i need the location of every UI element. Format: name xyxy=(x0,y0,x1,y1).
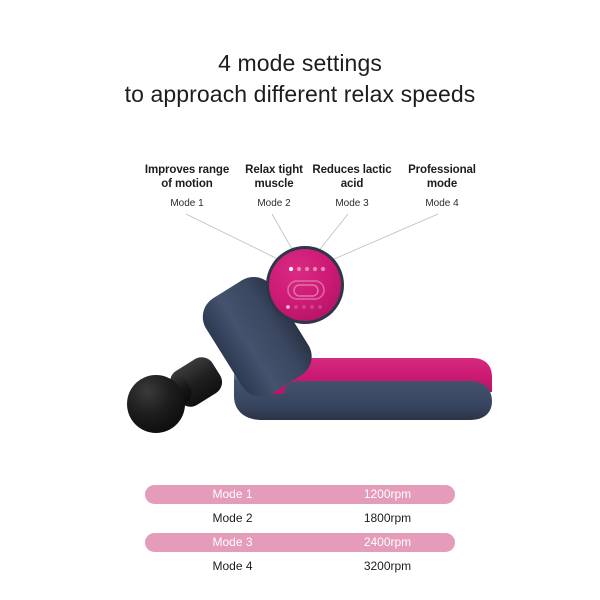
led-dot-2 xyxy=(297,267,301,271)
page-title: 4 mode settings to approach different re… xyxy=(0,48,600,110)
callout-mode-label: Mode 4 xyxy=(396,197,488,211)
table-cell-rpm: 3200rpm xyxy=(320,557,455,576)
table-cell-rpm: 1200rpm xyxy=(320,485,455,504)
callout-description: Professional mode xyxy=(396,164,488,191)
leader-line-4 xyxy=(318,214,438,266)
led-dot-3 xyxy=(305,267,309,271)
leader-lines xyxy=(186,214,438,266)
table-cell-mode: Mode 4 xyxy=(145,557,320,576)
callout-mode-4: Professional mode Mode 4 xyxy=(396,164,488,211)
table-row[interactable]: Mode 1 1200rpm xyxy=(145,485,455,504)
attachment-neck xyxy=(152,373,196,415)
led-dot-1 xyxy=(289,267,293,271)
table-cell-mode: Mode 3 xyxy=(145,533,320,552)
table-row[interactable]: Mode 4 3200rpm xyxy=(145,557,455,576)
table-cell-rpm: 1800rpm xyxy=(320,509,455,528)
leader-line-2 xyxy=(272,214,300,263)
table-row[interactable]: Mode 2 1800rpm xyxy=(145,509,455,528)
leader-line-1 xyxy=(186,214,292,266)
table-cell-mode: Mode 1 xyxy=(145,485,320,504)
battery-indicator-row xyxy=(286,305,322,309)
table-cell-mode: Mode 2 xyxy=(145,509,320,528)
callout-description: Reduces lactic acid xyxy=(302,164,402,191)
led-dot-4 xyxy=(313,267,317,271)
title-line-2: to approach different relax speeds xyxy=(0,79,600,110)
handle-magenta-stripe xyxy=(258,358,492,396)
motor-barrel xyxy=(194,269,319,405)
attachment-collar xyxy=(165,352,227,411)
handle-navy-body xyxy=(234,372,492,420)
led-indicator-row xyxy=(289,267,325,271)
leader-line-3 xyxy=(309,214,348,263)
led-dot-5 xyxy=(321,267,325,271)
table-row[interactable]: Mode 3 2400rpm xyxy=(145,533,455,552)
table-cell-rpm: 2400rpm xyxy=(320,533,455,552)
ball-attachment-head xyxy=(127,375,185,433)
callout-mode-label: Mode 3 xyxy=(302,197,402,211)
control-head-face xyxy=(269,249,341,321)
power-button[interactable] xyxy=(288,281,324,299)
mode-speed-table: Mode 1 1200rpm Mode 2 1800rpm Mode 3 240… xyxy=(145,485,455,576)
title-line-1: 4 mode settings xyxy=(0,48,600,79)
control-head-rim xyxy=(266,246,344,324)
callout-mode-3: Reduces lactic acid Mode 3 xyxy=(302,164,402,211)
